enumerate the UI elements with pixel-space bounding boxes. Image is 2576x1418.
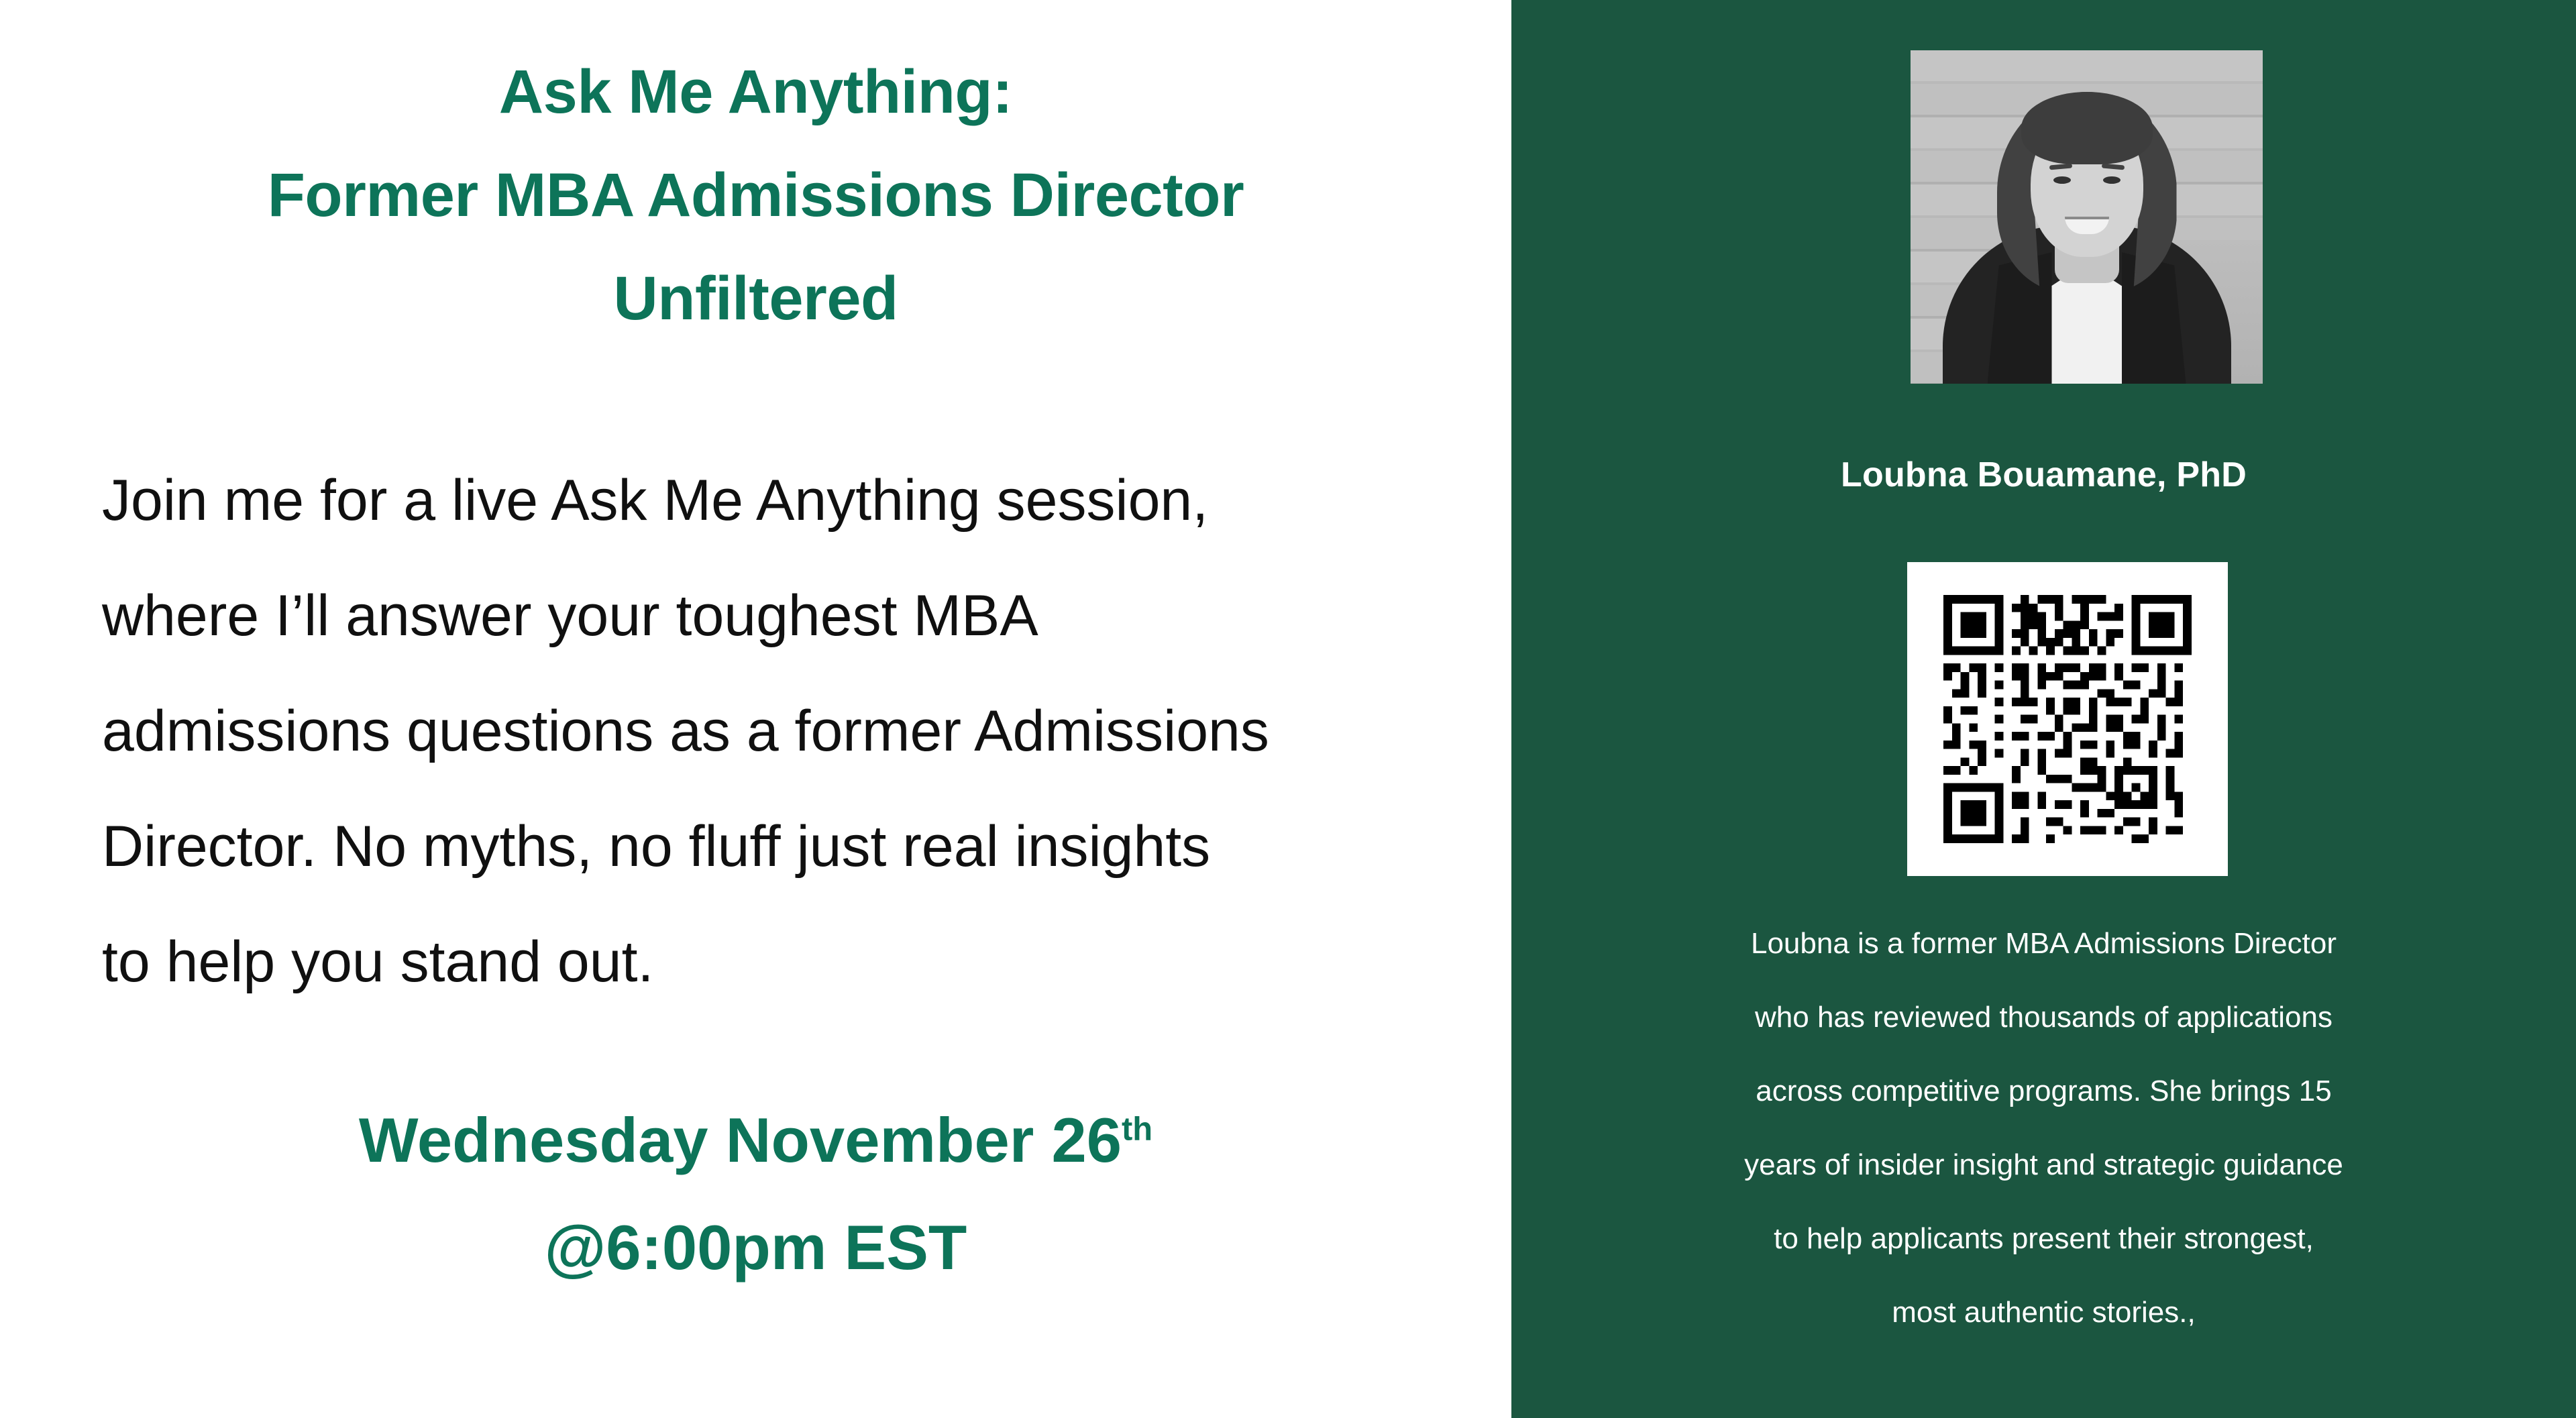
speaker-bio: Loubna is a former MBA Admissions Direct… (1525, 907, 2563, 1350)
event-time: @6:00pm EST (0, 1194, 1511, 1301)
description-line-5: to help you stand out. (102, 904, 1450, 1020)
bio-line-5: to help applicants present their stronge… (1525, 1202, 2563, 1276)
right-speaker-panel: Loubna Bouamane, PhD (1511, 0, 2576, 1418)
photo-eye-right (2103, 176, 2121, 184)
bio-line-3: across competitive programs. She brings … (1525, 1054, 2563, 1128)
headshot-photo (1911, 50, 2263, 384)
headline-line-1: Ask Me Anything: (0, 40, 1511, 144)
description-line-2: where I’ll answer your toughest MBA (102, 558, 1450, 673)
event-date-text: Wednesday November 26 (359, 1105, 1122, 1175)
event-date: Wednesday November 26th (0, 1087, 1511, 1194)
headline-line-3: Unfiltered (0, 247, 1511, 350)
event-flyer: Ask Me Anything: Former MBA Admissions D… (0, 0, 2576, 1418)
bio-line-1: Loubna is a former MBA Admissions Direct… (1525, 907, 2563, 981)
description-line-3: admissions questions as a former Admissi… (102, 673, 1450, 789)
qr-code-icon (1943, 595, 2192, 843)
photo-eye-left (2053, 176, 2071, 184)
photo-hair-top (2021, 92, 2153, 164)
page-title: Ask Me Anything: Former MBA Admissions D… (0, 40, 1511, 350)
event-date-ordinal: th (1122, 1111, 1152, 1148)
bio-line-2: who has reviewed thousands of applicatio… (1525, 981, 2563, 1054)
description-line-4: Director. No myths, no fluff just real i… (102, 789, 1450, 904)
bio-line-6: most authentic stories., (1525, 1276, 2563, 1350)
event-datetime: Wednesday November 26th @6:00pm EST (0, 1087, 1511, 1301)
speaker-name: Loubna Bouamane, PhD (1511, 455, 2576, 495)
left-content-panel: Ask Me Anything: Former MBA Admissions D… (0, 0, 1511, 1418)
description-line-1: Join me for a live Ask Me Anything sessi… (102, 443, 1450, 558)
description-paragraph: Join me for a live Ask Me Anything sessi… (102, 443, 1450, 1020)
headline-line-2: Former MBA Admissions Director (0, 144, 1511, 247)
bio-line-4: years of insider insight and strategic g… (1525, 1128, 2563, 1202)
qr-code[interactable] (1907, 562, 2228, 876)
